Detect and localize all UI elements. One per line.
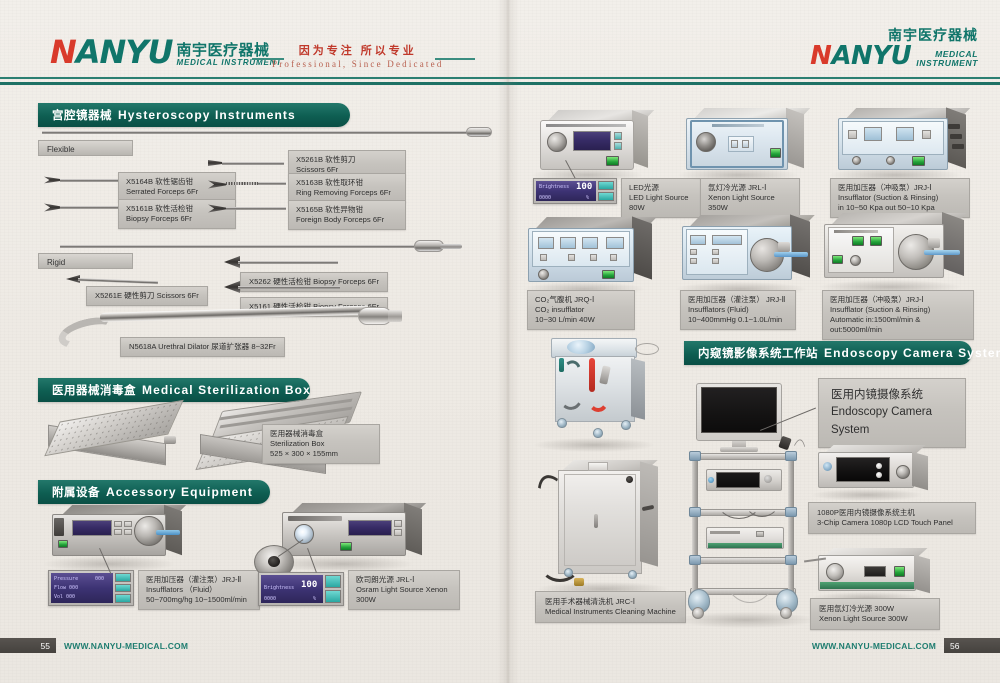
r2a-gas-port[interactable]	[538, 269, 549, 280]
device-osram-light-source	[282, 512, 422, 560]
brand-right-row: NANYU MEDICAL INSTRUMENT	[810, 43, 978, 69]
device-insufflator-suction-rinsing-2	[824, 224, 970, 284]
caption-3chip-cn: 1080P医用内镜摄像系统主机	[817, 508, 967, 518]
r1c-btn-a[interactable]	[848, 130, 857, 139]
caption-sterilization-box: 医用器械消毒盒 Sterilization Box 525 × 300 × 15…	[262, 424, 380, 464]
section-camera-en: Endoscopy Camera System	[824, 346, 1000, 360]
r2a-screen-4	[606, 237, 624, 249]
section-sterilization-cn: 医用器械消毒盒	[52, 382, 136, 398]
xenon2-light-port[interactable]	[826, 563, 844, 581]
caption-r2a: CO₂气腹机 JRQ-Ⅰ CO₂ insufflator 10~30 L/min…	[527, 290, 635, 330]
r2c-tube-clamp	[928, 238, 940, 248]
caption-x5261e-text: X5261E 硬性剪刀 Scissors 6Fr	[95, 291, 199, 300]
caption-r1a-en: LED Light Source	[629, 193, 703, 203]
caption-x5262-text: X5262 硬性活检钳 Biopsy Forceps 6Fr	[249, 277, 379, 286]
device-1-btn-c[interactable]	[114, 529, 122, 535]
r2b-screen-1	[690, 235, 706, 245]
trolley-wheel-right	[780, 607, 792, 619]
caption-xenon300-cn: 医用氙灯冷光源 300W	[819, 604, 931, 614]
trolley-light-cable	[722, 533, 778, 603]
device-2-btn-down[interactable]	[394, 529, 402, 536]
tagline-rule-right	[435, 58, 475, 60]
section-hysteroscopy-en: Hysteroscopy Instruments	[118, 108, 296, 122]
section-camera-cn: 内窥镜影像系统工作站	[698, 345, 818, 361]
group-label-rigid: Rigid	[38, 253, 133, 269]
caption-3chip-en: 3-Chip Camera 1080p LCD Touch Panel	[817, 518, 967, 528]
r1c-power-led[interactable]	[912, 156, 925, 166]
device-cleaning-machine	[558, 460, 678, 590]
r2c-brand	[834, 230, 878, 233]
device-insufflator-fluid-2	[682, 226, 814, 286]
r2b-btn-2[interactable]	[690, 258, 697, 264]
brand-right-rest: ANYU	[831, 41, 911, 71]
caption-r2b-spec: 10~400mmHg 0.1~1.0L/min	[688, 315, 788, 325]
device-1-power-led[interactable]	[58, 540, 68, 548]
caption-xenon300-en: Xenon Light Source 300W	[819, 614, 931, 624]
brand-right-initial: N	[810, 41, 831, 71]
page-number-left: 55	[0, 638, 56, 653]
brand-cn-block: 南宇医疗器械 MEDICAL INSTRUMENT	[176, 43, 281, 68]
device-insufflator-fluid	[52, 514, 182, 562]
r2b-btn-1[interactable]	[690, 249, 697, 255]
brand-initial: N	[50, 33, 76, 71]
r1c-screen-b	[896, 127, 914, 141]
caption-r2a-cn: CO₂气腹机 JRQ-Ⅰ	[535, 295, 627, 305]
device-xenon-light-source	[686, 118, 804, 176]
device-1-tube	[156, 530, 180, 535]
device-1-btn-a[interactable]	[114, 521, 122, 527]
caption-sterilization-en: Sterilization Box	[270, 439, 372, 449]
r1a-brand	[546, 124, 626, 127]
caption-x5163b-cn: X5163B 软性取环钳	[296, 178, 398, 188]
r1a-display-unit: %	[586, 195, 589, 201]
caption-r2a-en: CO₂ insufflator	[535, 305, 627, 315]
caption-r2a-spec: 10~30 L/min 40W	[535, 315, 627, 325]
device-1-btn-b[interactable]	[124, 521, 132, 527]
caption-r1a-spec: 80W	[629, 203, 703, 213]
serrated-forceps-shaft	[60, 179, 120, 182]
cleaner-1-caster-c	[593, 428, 603, 438]
page-gutter	[497, 0, 519, 683]
caption-dilator-text: N5618A Urethral Dilator 尿道扩张器 8~32Fr	[129, 342, 276, 351]
xenon2-power-led[interactable]	[894, 566, 905, 577]
caption-r1b: 氙灯冷光源 JRL-Ⅰ Xenon Light Source 350W	[700, 178, 800, 218]
group-label-flexible-text: Flexible	[47, 145, 75, 154]
r1c-rear-a	[948, 124, 960, 129]
device-1-display-inset: Pressure Flow 000 Vol 000 000	[48, 570, 134, 606]
r1c-screen-a	[864, 127, 882, 141]
r2b-btn-4[interactable]	[712, 258, 719, 264]
r1b-power-led[interactable]	[770, 148, 781, 158]
footer-url-right[interactable]: WWW.NANYU-MEDICAL.COM	[812, 641, 936, 651]
caption-x5261b-cn: X5261B 软性剪刀	[296, 155, 398, 165]
chipcam-power-led[interactable]	[823, 462, 832, 471]
ring-forceps-shaft	[258, 182, 286, 185]
trolley-ccu-knob[interactable]	[764, 475, 772, 483]
caption-r1b-cn: 氙灯冷光源 JRL-Ⅰ	[708, 183, 792, 193]
cleaner-2-side	[640, 461, 658, 566]
caption-accessory-1-en: Insufflators （Fluid）	[146, 585, 252, 595]
r2c-panel	[828, 227, 894, 273]
r2c-port[interactable]	[850, 255, 861, 266]
cleaner-2-caster-r	[628, 570, 637, 579]
r1c-rear-b	[950, 134, 962, 139]
r2a-btn-1[interactable]	[540, 254, 547, 261]
caption-x5163b: X5163B 软性取环钳 Ring Removing Forceps 6Fr	[288, 173, 406, 203]
caption-x5262: X5262 硬性活检钳 Biopsy Forceps 6Fr	[240, 272, 388, 292]
device-2-display: Brightness 100 0000 %	[261, 575, 323, 603]
caption-r2b: 医用加压器（灌注泵） JRJ-Ⅱ Insufflators (Fluid) 10…	[680, 290, 796, 330]
r2a-screen-1	[538, 237, 554, 249]
section-accessory-cn: 附属设备	[52, 484, 100, 500]
section-hysteroscopy-cn: 宫腔镜器械	[52, 107, 112, 123]
device-2-display-value: 100	[301, 580, 317, 590]
header-rule-thick	[0, 82, 1000, 85]
device-1-keys[interactable]	[115, 573, 131, 603]
r1c-rear-c	[952, 144, 964, 149]
chipcam-btn-2[interactable]	[876, 472, 882, 478]
page-header: NANYU 南宇医疗器械 MEDICAL INSTRUMENT 因为专注 所以专…	[0, 0, 1000, 85]
caption-x5164b: X5164B 软性锯齿钳 Serrated Forceps 6Fr	[118, 172, 236, 202]
r1b-brand	[712, 124, 764, 127]
footer-right: WWW.NANYU-MEDICAL.COM 56	[812, 638, 1000, 653]
caption-x5163b-en: Ring Removing Forceps 6Fr	[296, 188, 398, 198]
rigid-x5262-shaft	[238, 261, 338, 264]
trolley-lightsource-brand	[710, 531, 740, 534]
caption-cleaning-machine: 医用手术器械清洗机 JRC-Ⅰ Medical Instruments Clea…	[535, 591, 686, 623]
brand-right-wordmark: NANYU	[810, 43, 911, 69]
r2b-screen-2	[712, 235, 742, 245]
r1b-btn-a[interactable]	[731, 140, 738, 148]
device-2-power-led[interactable]	[340, 542, 352, 551]
chipcam-lens-port[interactable]	[896, 465, 910, 479]
trolley-wheel-left	[692, 607, 704, 619]
brand-subtitle: MEDICAL INSTRUMENT	[176, 59, 281, 67]
caption-accessory-2-en: Osram Light Source Xenon	[356, 585, 452, 595]
caption-r2b-cn: 医用加压器（灌注泵） JRJ-Ⅱ	[688, 295, 788, 305]
section-header-accessory: 附属设备 Accessory Equipment	[38, 480, 270, 504]
ring-forceps-coil	[226, 182, 260, 185]
flexible-scope-shaft	[42, 131, 472, 134]
section-sterilization-en: Medical Sterilization Box	[142, 383, 311, 397]
rigid-x5261e-shaft	[78, 278, 158, 284]
device-1-display-label: Pressure	[54, 576, 78, 582]
r1a-btn-down[interactable]	[614, 142, 622, 150]
device-2-display-label: Brightness	[264, 585, 294, 591]
foreign-body-forceps-shaft	[226, 207, 286, 210]
device-1-side-panel	[54, 518, 64, 536]
r2c-led-a[interactable]	[852, 236, 864, 246]
caption-r1c-cn: 医用加压器（冲吸泵）JRJ-Ⅰ	[838, 183, 962, 193]
brand-logo-right: 南宇医疗器械 NANYU MEDICAL INSTRUMENT	[810, 28, 978, 69]
rigid-scope-tip	[440, 244, 462, 249]
catalog-page: NANYU 南宇医疗器械 MEDICAL INSTRUMENT 因为专注 所以专…	[0, 0, 1000, 683]
page-number-right-text: 56	[950, 641, 959, 651]
caption-xenon-300w: 医用氙灯冷光源 300W Xenon Light Source 300W	[810, 598, 940, 630]
cleaner-1-tray	[635, 343, 659, 355]
r2a-btn-2[interactable]	[568, 254, 575, 261]
device-3chip-camera	[818, 452, 928, 494]
caption-r2c-cn: 医用加压器（冲吸泵）JRJ-Ⅰ	[830, 295, 966, 305]
device-1-display: Pressure Flow 000 Vol 000 000	[51, 573, 113, 603]
caption-camera-system: 医用内镜摄像系统 Endoscopy Camera System	[818, 378, 966, 448]
light-guide-aperture	[268, 556, 280, 567]
caption-dilator: N5618A Urethral Dilator 尿道扩张器 8~32Fr	[120, 337, 285, 357]
header-rule-thin	[0, 77, 1000, 79]
r1a-brightness-knob[interactable]	[547, 132, 567, 152]
caption-accessory-2: 欧司朗光源 JRL-Ⅰ Osram Light Source Xenon 300…	[348, 570, 460, 610]
caption-x5165b-cn: X5165B 软性异物钳	[296, 205, 398, 215]
caption-accessory-1: 医用加压器（灌注泵）JRJ-Ⅱ Insufflators （Fluid） 50~…	[138, 570, 260, 610]
xenon2-display	[864, 566, 886, 577]
caption-x5261e: X5261E 硬性剪刀 Scissors 6Fr	[86, 286, 208, 306]
r1c-port-b[interactable]	[886, 156, 895, 165]
device-2-screen	[348, 520, 392, 536]
cleaner-1-basin	[567, 340, 595, 354]
r1a-keys[interactable]	[598, 181, 614, 201]
cleaner-1-caster-r	[621, 420, 631, 430]
caption-3chip-camera: 1080P医用内镜摄像系统主机 3-Chip Camera 1080p LCD …	[808, 502, 976, 534]
tagline-en: Professional, Since Dedicated	[272, 59, 444, 70]
trolley-clamp-3l	[689, 555, 701, 565]
device-xenon-300w	[818, 555, 930, 597]
device-cleaning-cart	[545, 338, 655, 448]
trolley-camera-head	[778, 436, 792, 451]
brand-right-sub2: INSTRUMENT	[916, 59, 978, 68]
device-2-brand-strip	[288, 516, 342, 521]
biopsy-forceps-shaft	[60, 206, 120, 209]
caption-x5161b: X5161B 软性活检钳 Biopsy Forceps 6Fr	[118, 199, 236, 229]
caption-r1b-en: Xenon Light Source	[708, 193, 792, 203]
rigid-x5161-shaft	[238, 286, 340, 289]
brand-rest: ANYU	[76, 33, 173, 71]
caption-x5164b-en: Serrated Forceps 6Fr	[126, 187, 228, 197]
caption-r2c-en: Insufflator (Suction & Rinsing)	[830, 305, 966, 315]
caption-sterilization-size: 525 × 300 × 155mm	[270, 449, 372, 459]
r1a-power-led[interactable]	[606, 156, 619, 166]
device-1-display-value: 000	[95, 576, 104, 582]
r1a-display-label: Brightness	[539, 184, 569, 190]
r2c-tube	[924, 250, 960, 255]
r2a-screen-3	[582, 237, 598, 249]
device-1-screen	[72, 520, 112, 536]
brand-wordmark: NANYU	[50, 36, 172, 68]
caption-r1c-en: Insufflator (Suction & Rinsing)	[838, 193, 962, 203]
chipcam-side	[912, 452, 928, 491]
cleaner-2-indicator	[626, 476, 633, 483]
page-number-left-text: 55	[41, 641, 50, 651]
section-header-hysteroscopy: 宫腔镜器械 Hysteroscopy Instruments	[38, 103, 350, 127]
device-2-light-port[interactable]	[294, 524, 314, 544]
caption-accessory-1-spec: 50~700mg/hg 10~1500ml/min	[146, 595, 252, 605]
device-1-btn-d[interactable]	[124, 529, 132, 535]
brand-cn-name: 南宇医疗器械	[176, 43, 281, 59]
caption-accessory-1-cn: 医用加压器（灌注泵）JRJ-Ⅱ	[146, 575, 252, 585]
device-2-display-inset: Brightness 100 0000 %	[258, 572, 344, 606]
r1a-display-value: 100	[576, 182, 592, 192]
cleaner-2-hose-fitting	[574, 578, 584, 586]
tagline-cn: 因为专注 所以专业	[272, 45, 444, 59]
r1c-btn-b[interactable]	[922, 130, 931, 139]
cleaner-1-side	[631, 358, 645, 419]
xenon2-strip	[820, 582, 914, 589]
tagline: 因为专注 所以专业 Professional, Since Dedicated	[272, 45, 444, 70]
r1a-display-inset: Brightness 100 0000 %	[533, 178, 617, 204]
chipcam-lcd	[836, 457, 890, 482]
footer-url-left-text: WWW.NANYU-MEDICAL.COM	[64, 641, 188, 651]
trolley-clamp-1l	[689, 451, 701, 461]
footer-url-right-text: WWW.NANYU-MEDICAL.COM	[812, 641, 936, 651]
chipcam-btn-1[interactable]	[876, 463, 882, 469]
cleaner-2-handle[interactable]	[594, 514, 598, 528]
brand-logo-left: NANYU 南宇医疗器械 MEDICAL INSTRUMENT	[50, 36, 282, 68]
cleaner-2-caster-l	[564, 568, 573, 577]
sterilization-box-closed	[48, 412, 188, 462]
r2a-screen-2	[560, 237, 576, 249]
caption-camera-system-cn: 医用内镜摄像系统	[831, 387, 953, 404]
caption-r2b-en: Insufflators (Fluid)	[688, 305, 788, 315]
cleaner-1-caster-l	[557, 418, 567, 428]
cleaner-2-label	[588, 462, 608, 471]
group-label-flexible: Flexible	[38, 140, 133, 156]
r2b-tube	[774, 252, 808, 257]
r2a-btn-4[interactable]	[610, 254, 617, 261]
scissors-shaft	[222, 162, 284, 165]
r1b-light-port[interactable]	[696, 132, 716, 152]
r1c-port-a[interactable]	[852, 156, 861, 165]
device-insufflator-suction-rinsing-1	[838, 118, 968, 176]
caption-r1b-spec: 350W	[708, 203, 792, 213]
caption-camera-system-en: Endoscopy Camera System	[831, 404, 953, 439]
r1a-btn-up[interactable]	[614, 132, 622, 140]
r1a-display: Brightness 100 0000 %	[536, 181, 596, 201]
caption-sterilization-cn: 医用器械消毒盒	[270, 429, 372, 439]
r2a-btn-3[interactable]	[590, 254, 597, 261]
page-number-right: 56	[944, 638, 1000, 653]
r2c-led-b[interactable]	[870, 236, 882, 246]
caption-r2c-spec: Automatic in:1500ml/min & out:5000ml/min	[830, 315, 966, 335]
caption-accessory-2-spec: 300W	[356, 595, 452, 605]
r2c-power-led[interactable]	[832, 255, 843, 264]
caption-r2c: 医用加压器（冲吸泵）JRJ-Ⅰ Insufflator (Suction & R…	[822, 290, 974, 340]
r2a-power-led[interactable]	[602, 270, 615, 279]
footer-left: 55 WWW.NANYU-MEDICAL.COM	[0, 638, 188, 653]
cleaner-1-nozzle-teal	[559, 358, 564, 372]
trolley-post-left	[692, 453, 698, 595]
r1b-btn-b[interactable]	[742, 140, 749, 148]
section-accessory-en: Accessory Equipment	[106, 485, 253, 499]
caption-cleaning-cn: 医用手术器械清洗机 JRC-Ⅰ	[545, 597, 676, 607]
flexible-scope-handle	[466, 127, 492, 137]
device-co2-insufflator	[528, 228, 652, 288]
rigid-scope-shaft	[60, 245, 420, 248]
caption-r1a-cn: LED光源	[629, 183, 703, 193]
section-header-camera-system: 内窥镜影像系统工作站 Endoscopy Camera System	[684, 341, 972, 365]
trolley-monitor-screen	[701, 387, 777, 433]
footer-url-left[interactable]: WWW.NANYU-MEDICAL.COM	[64, 641, 188, 651]
device-2-keys[interactable]	[325, 575, 341, 603]
trolley-shelf-1	[690, 453, 796, 460]
cleaner-2-hose-loop	[540, 548, 580, 582]
caption-x5161b-en: Biopsy Forceps 6Fr	[126, 214, 228, 224]
xenon2-side	[914, 555, 930, 594]
caption-accessory-2-cn: 欧司朗光源 JRL-Ⅰ	[356, 575, 452, 585]
caption-r1a: LED光源 LED Light Source 80W	[621, 178, 711, 218]
caption-x5165b: X5165B 软性异物钳 Foreign Body Forceps 6Fr	[288, 200, 406, 230]
trolley-clamp-2l	[689, 507, 701, 517]
group-label-rigid-text: Rigid	[47, 258, 65, 267]
trolley-ccu-led	[708, 477, 714, 483]
r1a-screen	[573, 131, 611, 151]
caption-cleaning-en: Medical Instruments Cleaning Machine	[545, 607, 676, 617]
device-2-btn-up[interactable]	[394, 520, 402, 527]
brand-right-subtitle: MEDICAL INSTRUMENT	[916, 50, 978, 70]
r2b-btn-3[interactable]	[712, 249, 719, 255]
section-header-sterilization: 医用器械消毒盒 Medical Sterilization Box	[38, 378, 310, 402]
r2b-tube-clamp	[778, 242, 790, 252]
trolley-cable-b	[744, 483, 780, 517]
trolley-monitor-base	[720, 447, 758, 452]
device-led-light-source	[540, 120, 648, 176]
caption-x5165b-en: Foreign Body Forceps 6Fr	[296, 215, 398, 225]
